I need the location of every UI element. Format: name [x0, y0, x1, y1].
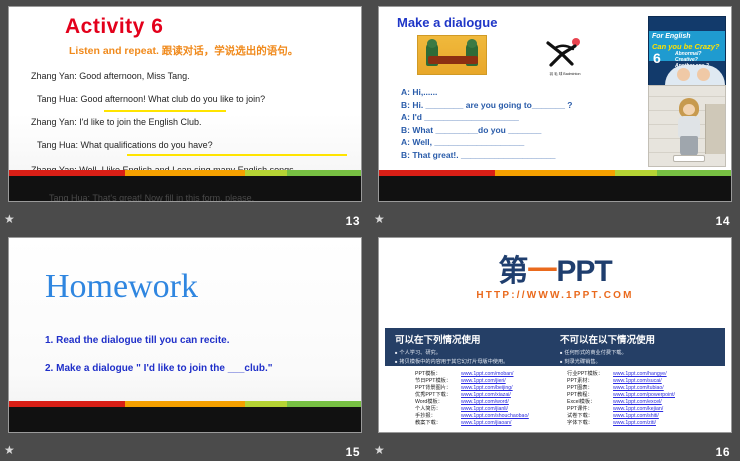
forbidden-usage-list: 任何形式的商业付费下载。 刻录光碟销售。 — [560, 349, 716, 366]
link-label: 行业PPT模板： — [567, 371, 613, 378]
resource-links: PPT模板：www.1ppt.com/moban/ 节日PPT模板：www.1p… — [385, 371, 725, 427]
link-url[interactable]: www.1ppt.com/moban/ — [461, 371, 513, 378]
dialogue-line: Tang Hua: What qualifications do you hav… — [37, 140, 213, 150]
link-url[interactable]: www.1ppt.com/sucai/ — [613, 378, 662, 385]
poster-line-1: For English — [652, 33, 691, 40]
list-item: 拷贝模板中的内容用于其它幻灯片母版中使用。 — [395, 358, 551, 367]
list-item: 刻录光碟销售。 — [560, 358, 716, 367]
forbidden-usage-title: 不可以在以下情况使用 — [560, 332, 716, 346]
slide-16[interactable]: 第一PPT HTTP://WWW.1PPT.COM 可以在下列情况使用 个人学习… — [378, 237, 732, 433]
slide-thumbnail-grid: Activity 6 Listen and repeat. 跟读对话，学说选出的… — [0, 0, 740, 461]
usage-terms-band: 可以在下列情况使用 个人学习、研究。 拷贝模板中的内容用于其它幻灯片母版中使用。… — [385, 328, 725, 366]
link-row[interactable]: PPT课件：www.1ppt.com/kejian/ — [567, 406, 725, 413]
link-label: PPT图表： — [567, 385, 613, 392]
link-row[interactable]: 节日PPT模板：www.1ppt.com/jieri/ — [415, 378, 555, 385]
link-url[interactable]: www.1ppt.com/tubiao/ — [613, 385, 664, 392]
link-url[interactable]: www.1ppt.com/ziti/ — [613, 420, 656, 427]
badminton-caption: 羽 毛 球 Badminton — [542, 72, 588, 77]
slide-15-title: Homework — [45, 268, 198, 306]
link-url[interactable]: www.1ppt.com/xiazai/ — [461, 392, 511, 399]
link-label: PPT教程： — [567, 392, 613, 399]
slide-cell-16[interactable]: 第一PPT HTTP://WWW.1PPT.COM 可以在下列情况使用 个人学习… — [370, 230, 740, 461]
slide-cell-13[interactable]: Activity 6 Listen and repeat. 跟读对话，学说选出的… — [0, 0, 370, 230]
dinner-picture — [417, 35, 487, 75]
link-label: 优秀PPT下载： — [415, 392, 461, 399]
brand-logo: 第一PPT HTTP://WWW.1PPT.COM — [379, 256, 731, 301]
link-row[interactable]: 字体下载：www.1ppt.com/ziti/ — [567, 420, 725, 427]
dialogue-line: Zhang Yan: I'd like to join the English … — [31, 117, 202, 127]
star-icon[interactable]: ★ — [4, 212, 18, 226]
link-url[interactable]: www.1ppt.com/shiti/ — [613, 413, 659, 420]
slide-14-title: Make a dialogue — [397, 15, 497, 30]
highlight-underline-1 — [104, 110, 226, 112]
link-url[interactable]: www.1ppt.com/jieri/ — [461, 378, 506, 385]
link-url[interactable]: www.1ppt.com/jiaoan/ — [461, 420, 511, 427]
dialogue-line: B: That great!. ____________________ — [401, 149, 573, 162]
slide-13-subtitle: Listen and repeat. 跟读对话，学说选出的语句。 — [69, 43, 298, 58]
brand-logo-url: HTTP://WWW.1PPT.COM — [379, 290, 731, 301]
link-row[interactable]: PPT图表：www.1ppt.com/tubiao/ — [567, 385, 725, 392]
resource-links-left: PPT模板：www.1ppt.com/moban/ 节日PPT模板：www.1p… — [385, 371, 555, 427]
link-url[interactable]: www.1ppt.com/word/ — [461, 399, 509, 406]
badminton-icon — [542, 37, 588, 69]
highlight-underline-2 — [127, 154, 347, 156]
slide-cell-14[interactable]: Make a dialogue 羽 毛 球 Badminton For — [370, 0, 740, 230]
link-row[interactable]: 教案下载：www.1ppt.com/jiaoan/ — [415, 420, 555, 427]
logo-char-di: 第 — [498, 255, 527, 288]
link-row[interactable]: PPT模板：www.1ppt.com/moban/ — [415, 371, 555, 378]
link-url[interactable]: www.1ppt.com/shouchaobao/ — [461, 413, 529, 420]
star-icon[interactable]: ★ — [4, 443, 18, 457]
dialogue-line: Zhang Yan: Good afternoon, Miss Tang. — [31, 71, 190, 81]
link-label: 教案下载： — [415, 420, 461, 427]
link-label: 字体下载： — [567, 420, 613, 427]
slide-bottom-band — [9, 407, 361, 432]
slide-13-footer: ★ 13 — [0, 204, 370, 230]
allowed-usage-list: 个人学习、研究。 拷贝模板中的内容用于其它幻灯片母版中使用。 — [395, 349, 551, 366]
link-label: Word模板： — [415, 399, 461, 406]
slide-13[interactable]: Activity 6 Listen and repeat. 跟读对话，学说选出的… — [8, 6, 362, 202]
link-url[interactable]: www.1ppt.com/powerpoint/ — [613, 392, 675, 399]
poster-line-2: Can you be Crazy? — [652, 42, 720, 51]
slide-13-page-number: 13 — [346, 214, 360, 228]
forbidden-usage-column: 不可以在以下情况使用 任何形式的商业付费下载。 刻录光碟销售。 — [560, 332, 716, 366]
link-url[interactable]: www.1ppt.com/beijing/ — [461, 385, 513, 392]
slide-15-page-number: 15 — [346, 445, 360, 459]
slide-14-page-number: 14 — [716, 214, 730, 228]
slide-16-footer: ★ 16 — [370, 435, 740, 461]
link-label: PPT课件： — [567, 406, 613, 413]
link-label: 手抄报： — [415, 413, 461, 420]
slide-15-footer: ★ 15 — [0, 435, 370, 461]
list-item: 个人学习、研究。 — [395, 349, 551, 358]
dialogue-line: Tang Hua: Good afternoon! What club do y… — [37, 94, 265, 104]
girl-on-scale-photo — [648, 85, 726, 167]
slide-16-page-number: 16 — [716, 445, 730, 459]
dialogue-line: B: What _________do you _______ — [401, 124, 573, 137]
resource-links-right: 行业PPT模板：www.1ppt.com/hangye/ PPT素材：www.1… — [555, 371, 725, 427]
link-row[interactable]: PPT素材：www.1ppt.com/sucai/ — [567, 378, 725, 385]
link-label: PPT模板： — [415, 371, 461, 378]
allowed-usage-title: 可以在下列情况使用 — [395, 332, 551, 346]
logo-ppt: PPT — [556, 255, 611, 288]
link-label: 个人简历： — [415, 406, 461, 413]
dialogue-line: Tang Hua: That's great! Now fill in this… — [49, 193, 254, 202]
slide-bottom-band — [379, 176, 731, 201]
slide-14[interactable]: Make a dialogue 羽 毛 球 Badminton For — [378, 6, 732, 202]
slide-13-title: Activity 6 — [65, 15, 163, 39]
logo-char-yi: 一 — [527, 255, 556, 288]
link-row[interactable]: PPT教程：www.1ppt.com/powerpoint/ — [567, 392, 725, 399]
slide-14-footer: ★ 14 — [370, 204, 740, 230]
link-row[interactable]: 优秀PPT下载：www.1ppt.com/xiazai/ — [415, 392, 555, 399]
list-item: 任何形式的商业付费下载。 — [560, 349, 716, 358]
star-icon[interactable]: ★ — [374, 443, 388, 457]
brand-logo-text: 第一PPT — [379, 256, 731, 288]
star-icon[interactable]: ★ — [374, 212, 388, 226]
link-row[interactable]: 个人简历：www.1ppt.com/jianli/ — [415, 406, 555, 413]
link-url[interactable]: www.1ppt.com/jianli/ — [461, 406, 508, 413]
slide-15[interactable]: Homework 1. Read the dialogue till you c… — [8, 237, 362, 433]
allowed-usage-column: 可以在下列情况使用 个人学习、研究。 拷贝模板中的内容用于其它幻灯片母版中使用。 — [395, 332, 551, 366]
link-row[interactable]: 行业PPT模板：www.1ppt.com/hangye/ — [567, 371, 725, 378]
link-row[interactable]: 手抄报：www.1ppt.com/shouchaobao/ — [415, 413, 555, 420]
link-url[interactable]: www.1ppt.com/kejian/ — [613, 406, 663, 413]
dialogue-template: A: Hi,...... B: Hi. ________ are you goi… — [401, 86, 573, 162]
homework-item: 2. Make a dialogue " I'd like to join th… — [45, 363, 272, 374]
poster-number: 6 — [653, 50, 661, 66]
english-corner-poster: For English Can you be Crazy? 6 Abnormal… — [648, 16, 726, 86]
dialogue-line: B: Hi. ________ are you going to_______ … — [401, 99, 573, 112]
link-row[interactable]: Word模板：www.1ppt.com/word/ — [415, 399, 555, 406]
link-row[interactable]: Excel模板：www.1ppt.com/excel/ — [567, 399, 725, 406]
dialogue-line: A: Well, ___________________ — [401, 136, 573, 149]
homework-item: 1. Read the dialogue till you can recite… — [45, 335, 230, 346]
link-row[interactable]: 试卷下载：www.1ppt.com/shiti/ — [567, 413, 725, 420]
link-label: PPT背景图片： — [415, 385, 461, 392]
link-label: 节日PPT模板： — [415, 378, 461, 385]
link-label: PPT素材： — [567, 378, 613, 385]
link-label: Excel模板： — [567, 399, 613, 406]
dialogue-line: A: Hi,...... — [401, 86, 573, 99]
slide-cell-15[interactable]: Homework 1. Read the dialogue till you c… — [0, 230, 370, 461]
link-row[interactable]: PPT背景图片：www.1ppt.com/beijing/ — [415, 385, 555, 392]
link-url[interactable]: www.1ppt.com/hangye/ — [613, 371, 667, 378]
badminton-pictogram: 羽 毛 球 Badminton — [542, 37, 588, 77]
link-url[interactable]: www.1ppt.com/excel/ — [613, 399, 662, 406]
link-label: 试卷下载： — [567, 413, 613, 420]
dialogue-line: A: I'd ____________________ — [401, 111, 573, 124]
